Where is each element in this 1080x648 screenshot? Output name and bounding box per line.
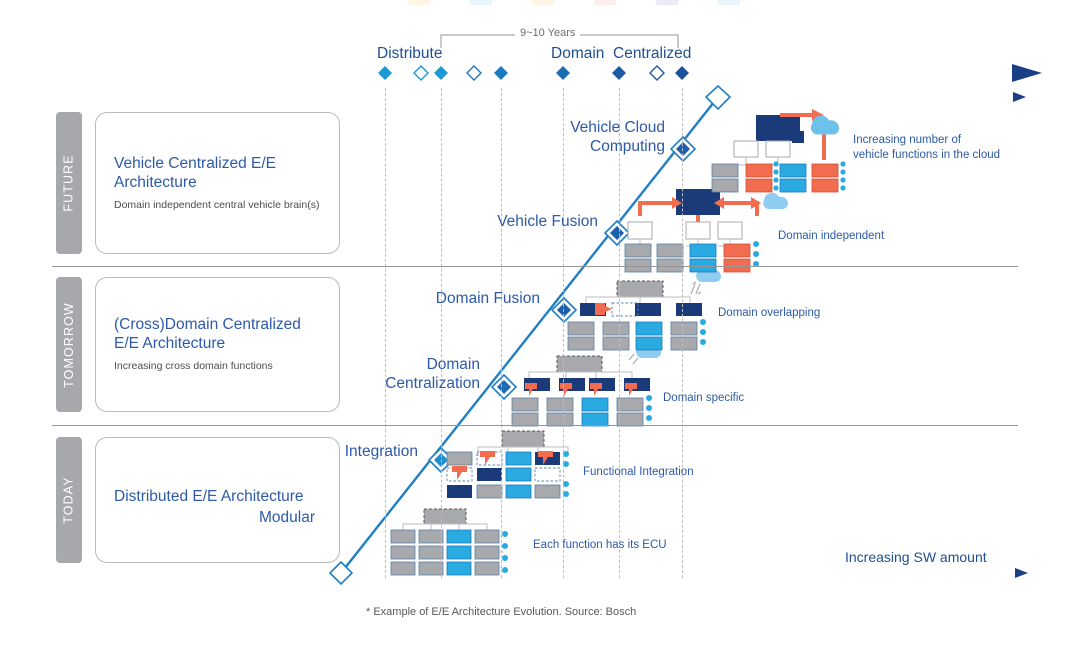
ecu-graphic-domain-fusion	[568, 266, 721, 350]
era-card-future-subtitle: Domain independent central vehicle brain…	[114, 199, 321, 213]
stage-label-domain-centralization: Domain Centralization	[340, 355, 480, 393]
cloud-icon-vehicle-fusion	[763, 193, 788, 209]
footnote: * Example of E/E Architecture Evolution.…	[366, 606, 636, 618]
era-tab-today: TODAY	[56, 437, 82, 563]
era-card-tomorrow[interactable]: (Cross)Domain Centralized E/E Architectu…	[95, 277, 340, 412]
era-card-future-title: Vehicle Centralized E/E Architecture	[114, 154, 321, 192]
era-card-tomorrow-subtitle: Increasing cross domain functions	[114, 360, 321, 374]
stage-label-modular: Modular	[205, 508, 315, 527]
era-tab-future-label: FUTURE	[62, 154, 76, 211]
vguide-4	[563, 88, 564, 578]
era-card-today-title: Distributed E/E Architecture	[114, 487, 321, 506]
x-axis-label: Increasing SW amount	[845, 549, 987, 565]
era-tab-tomorrow: TOMORROW	[56, 277, 82, 412]
annotation-vehicle-fusion: Domain independent	[778, 229, 884, 244]
timeline-axis	[52, 64, 1042, 82]
cropped-top-strip	[408, 0, 740, 5]
bottom-axis	[52, 568, 1028, 578]
band-separator-tomorrow-today	[52, 425, 1018, 426]
timeline-label-distribute: Distribute	[377, 45, 442, 63]
band-separator-future-tomorrow	[52, 266, 1018, 267]
vguide-1	[385, 88, 386, 578]
vguide-6	[682, 88, 683, 578]
vguide-2	[441, 88, 442, 578]
ecu-graphic-modular	[391, 509, 508, 575]
stage-node-top	[706, 86, 730, 109]
timeline-label-centralized: Centralized	[613, 45, 691, 63]
era-card-tomorrow-title: (Cross)Domain Centralized E/E Architectu…	[114, 315, 321, 353]
ecu-graphic-vehicle-fusion	[625, 189, 788, 272]
stage-label-vehicle-cloud-computing: Vehicle Cloud Computing	[495, 118, 665, 156]
annotation-modular: Each function has its ECU	[533, 538, 667, 553]
cloud-icon-vehicle-cloud-computing	[811, 116, 839, 135]
era-card-future[interactable]: Vehicle Centralized E/E Architecture Dom…	[95, 112, 340, 254]
stage-label-vehicle-fusion: Vehicle Fusion	[430, 212, 598, 231]
stage-node-vehicle-cloud-computing	[671, 137, 695, 161]
stage-label-domain-fusion: Domain Fusion	[380, 289, 540, 308]
annotation-integration: Functional Integration	[583, 465, 694, 480]
ecu-graphic-integration	[447, 431, 569, 498]
ecu-graphic-vehicle-cloud-computing	[712, 109, 846, 192]
annotation-vehicle-cloud-computing: Increasing number of vehicle functions i…	[853, 133, 1000, 163]
timeline-label-domain: Domain	[551, 45, 604, 63]
era-tab-today-label: TODAY	[62, 476, 76, 523]
era-tab-future: FUTURE	[56, 112, 82, 254]
timespan-label: 9~10 Years	[515, 27, 580, 39]
stage-label-integration: Integration	[300, 442, 418, 461]
ecu-graphic-domain-centralization	[512, 342, 661, 426]
annotation-domain-centralization: Domain specific	[663, 391, 744, 406]
vguide-3	[501, 88, 502, 578]
fusion-arrow	[595, 303, 612, 315]
stage-node-modular	[330, 562, 352, 584]
evolution-diagonal	[330, 86, 730, 584]
band-top-line	[52, 92, 1026, 102]
diagram-root: 9~10 Years Distribute Domain Centralized…	[0, 0, 1080, 648]
annotation-domain-fusion: Domain overlapping	[718, 306, 820, 321]
vguide-5	[619, 88, 620, 578]
era-tab-tomorrow-label: TOMORROW	[62, 302, 76, 388]
stage-node-vehicle-fusion	[605, 221, 629, 245]
